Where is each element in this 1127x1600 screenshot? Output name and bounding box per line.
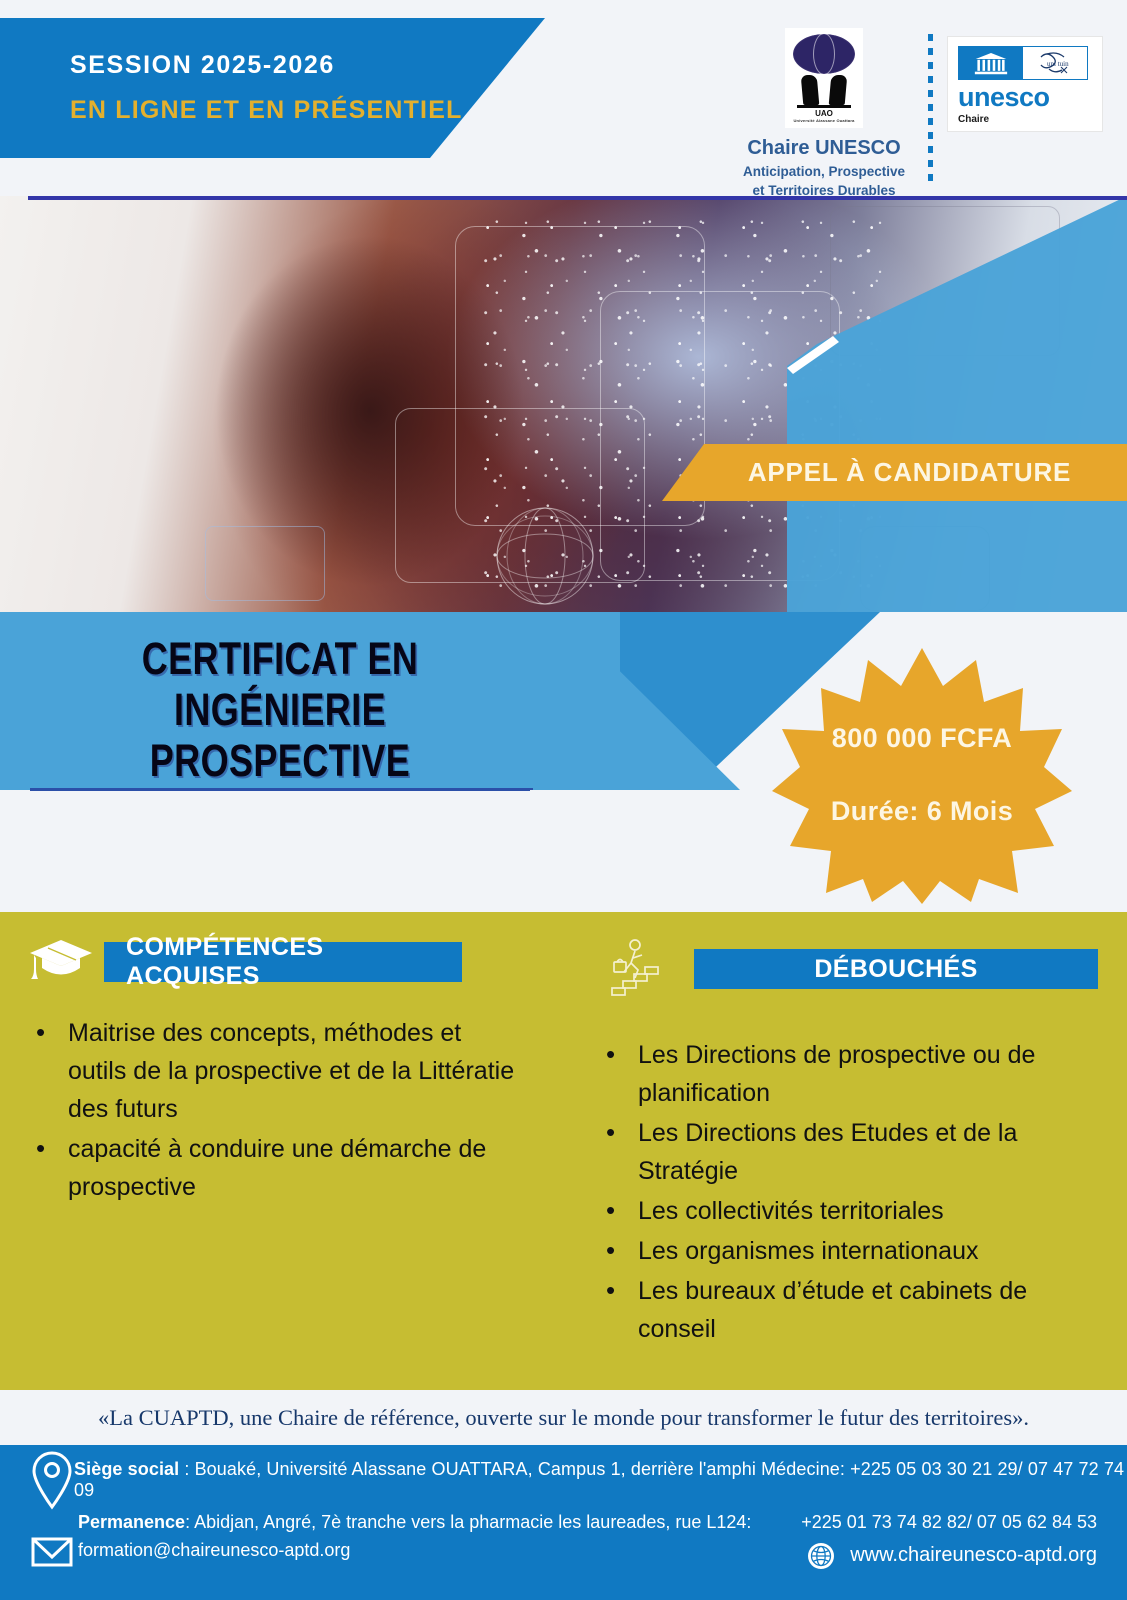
debouches-list: Les Directions de prospective ou de plan… (560, 1036, 1080, 1348)
session-year-label: SESSION 2025-2026 (70, 51, 545, 80)
competences-heading: COMPÉTENCES ACQUISES (126, 933, 440, 991)
chaire-unesco-logo: UAO Université Alassane Ouattara Chaire … (734, 28, 914, 200)
location-pin-icon (30, 1449, 74, 1511)
uao-globe-icon (793, 34, 855, 74)
debouches-heading-pill: DÉBOUCHÉS (694, 949, 1098, 989)
list-item: Les organismes internationaux (602, 1232, 1080, 1270)
duration-label: Durée: 6 Mois (831, 796, 1013, 827)
debouches-heading: DÉBOUCHÉS (814, 955, 977, 984)
footer-address-row: Siège social : Bouaké, Université Alassa… (0, 1449, 1127, 1511)
price-badge: 800 000 FCFA Durée: 6 Mois (772, 646, 1072, 904)
competences-header: COMPÉTENCES ACQUISES (0, 912, 560, 988)
chaire-subtitle-line1: Anticipation, Prospective (743, 163, 905, 182)
unesco-temple-icon (974, 53, 1008, 75)
permanence-label: Permanence (78, 1512, 185, 1532)
competences-list: Maitrise des concepts, méthodes et outil… (0, 1014, 520, 1206)
competences-heading-pill: COMPÉTENCES ACQUISES (104, 942, 462, 982)
appel-candidature-banner: APPEL À CANDIDATURE (662, 444, 1127, 501)
dotted-divider (928, 34, 933, 182)
hero-top-rule (28, 196, 1127, 200)
logo-zone: UAO Université Alassane Ouattara Chaire … (734, 28, 1103, 200)
session-mode-label: EN LIGNE ET EN PRÉSENTIEL (70, 96, 545, 125)
unesco-wordmark: unesco (958, 84, 1092, 111)
chaire-title: Chaire UNESCO (747, 137, 900, 160)
contact-phone: +225 01 73 74 82 82/ 07 05 62 84 53 (757, 1509, 1097, 1537)
competences-column: COMPÉTENCES ACQUISES Maitrise des concep… (0, 912, 560, 1208)
uao-sublabel: Université Alassane Ouattara (793, 118, 854, 123)
unesco-calligraphy-icon: uni tuin (1033, 48, 1077, 78)
uao-emblem-icon: UAO Université Alassane Ouattara (785, 28, 863, 128)
list-item: capacité à conduire une démarche de pros… (32, 1130, 520, 1206)
session-banner: SESSION 2025-2026 EN LIGNE ET EN PRÉSENT… (0, 18, 545, 158)
footer-permanence-row: Permanence: Abidjan, Angré, 7è tranche v… (30, 1509, 790, 1569)
unesco-logo: uni tuin unesco Chaire (947, 36, 1103, 132)
permanence-address: : Abidjan, Angré, 7è tranche vers la pha… (185, 1512, 751, 1532)
debouches-header: DÉBOUCHÉS (560, 912, 1127, 1002)
list-item: Les bureaux d’étude et cabinets de conse… (602, 1272, 1080, 1348)
siege-social-text: Siège social : Bouaké, Université Alassa… (74, 1459, 1127, 1501)
hero-image (0, 196, 1127, 620)
tagline-text: «La CUAPTD, une Chaire de référence, ouv… (98, 1405, 1029, 1431)
price-badge-text: 800 000 FCFA Durée: 6 Mois (772, 646, 1072, 904)
siege-social-label: Siège social (74, 1459, 179, 1479)
page-title: CERTIFICAT EN INGÉNIERIE PROSPECTIVE (56, 634, 504, 787)
list-item: Les collectivités territoriales (602, 1192, 1080, 1230)
globe-icon (806, 1541, 836, 1571)
content-sections: COMPÉTENCES ACQUISES Maitrise des concep… (0, 912, 1127, 1390)
tagline-quote: «La CUAPTD, une Chaire de référence, ouv… (0, 1390, 1127, 1445)
contact-email[interactable]: formation@chaireunesco-aptd.org (78, 1537, 751, 1565)
list-item: Les Directions des Etudes et de la Strat… (602, 1114, 1080, 1190)
list-item: Maitrise des concepts, méthodes et outil… (32, 1014, 520, 1128)
graduation-cap-icon (28, 936, 94, 988)
list-item: Les Directions de prospective ou de plan… (602, 1036, 1080, 1112)
career-stairs-icon (606, 936, 672, 1002)
footer-phone-web-block: +225 01 73 74 82 82/ 07 05 62 84 53 www.… (757, 1509, 1097, 1571)
permanence-text: Permanence: Abidjan, Angré, 7è tranche v… (78, 1509, 751, 1565)
uao-figures-icon (796, 71, 852, 105)
header-zone: SESSION 2025-2026 EN LIGNE ET EN PRÉSENT… (0, 0, 1127, 185)
envelope-icon (30, 1535, 74, 1569)
page-title-line1: CERTIFICAT EN INGÉNIERIE (56, 634, 504, 736)
contact-website[interactable]: www.chaireunesco-aptd.org (850, 1544, 1097, 1567)
siege-social-value: : Bouaké, Université Alassane OUATTARA, … (74, 1459, 1124, 1500)
unesco-emblem-icon: uni tuin (958, 46, 1088, 80)
debouches-column: DÉBOUCHÉS Les Directions de prospective … (560, 912, 1127, 1350)
title-underline (30, 788, 530, 791)
page-title-line2: PROSPECTIVE (56, 736, 504, 787)
svg-text:uni tuin: uni tuin (1047, 60, 1069, 68)
chaire-subtitle: Anticipation, Prospective et Territoires… (743, 163, 905, 200)
appel-candidature-label: APPEL À CANDIDATURE (718, 457, 1071, 488)
footer-contact-bar: Siège social : Bouaké, Université Alassa… (0, 1445, 1127, 1600)
hud-panel (205, 526, 325, 601)
price-label: 800 000 FCFA (832, 723, 1012, 754)
uao-label: UAO (815, 109, 833, 118)
unesco-chaire-label: Chaire (958, 114, 1092, 125)
